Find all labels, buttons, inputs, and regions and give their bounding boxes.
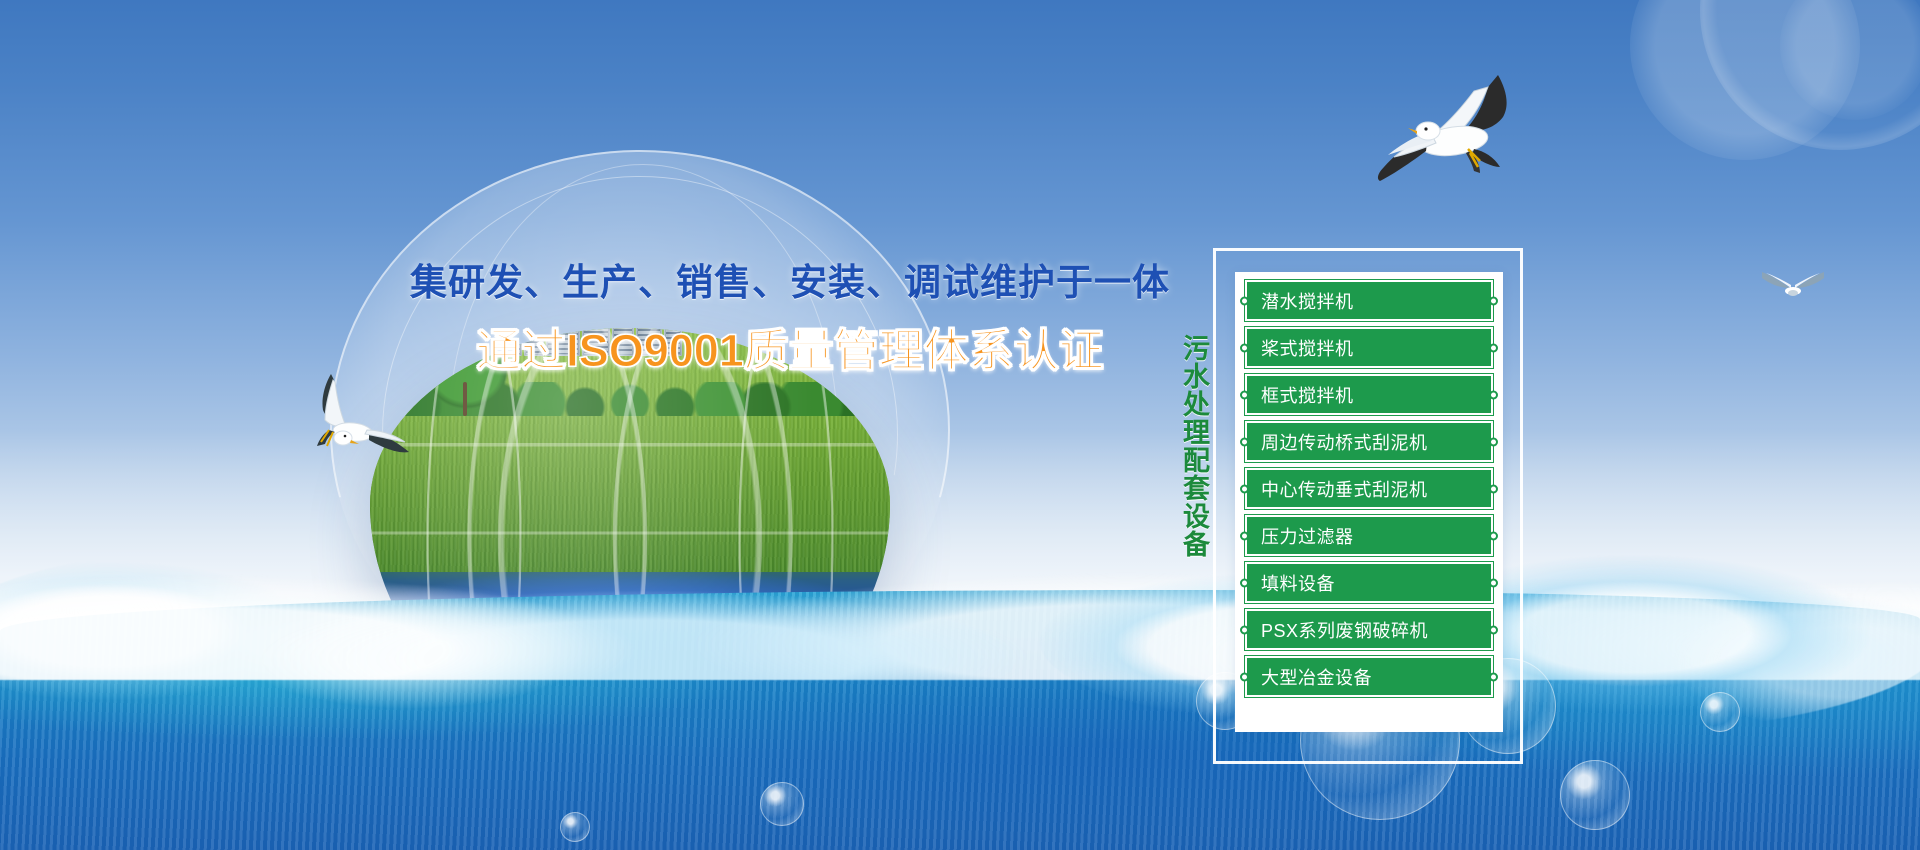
water-bubble-icon xyxy=(560,812,590,842)
product-list: 潜水搅拌机 桨式搅拌机 框式搅拌机 周边传动桥式刮泥机 xyxy=(1245,280,1493,697)
seagull-medium-icon xyxy=(295,368,420,465)
bolt-right-icon xyxy=(1489,390,1498,399)
seagull-large-icon xyxy=(1370,55,1560,200)
list-item-label: 桨式搅拌机 xyxy=(1261,335,1354,361)
list-item-label: 填料设备 xyxy=(1261,570,1335,596)
bolt-right-icon xyxy=(1489,531,1498,540)
bolt-right-icon xyxy=(1489,578,1498,587)
bolt-left-icon xyxy=(1240,531,1249,540)
bolt-left-icon xyxy=(1240,437,1249,446)
bolt-right-icon xyxy=(1489,437,1498,446)
list-item[interactable]: 压力过滤器 xyxy=(1245,515,1493,556)
lens-flare-icon xyxy=(1630,0,1860,160)
seagull-small-icon xyxy=(1758,266,1828,311)
bolt-right-icon xyxy=(1489,343,1498,352)
list-item-label: 大型冶金设备 xyxy=(1261,664,1372,690)
bolt-right-icon xyxy=(1489,625,1498,634)
headline-line-1: 集研发、生产、销售、安装、调试维护于一体 xyxy=(380,252,1200,306)
list-item[interactable]: 周边传动桥式刮泥机 xyxy=(1245,421,1493,462)
bolt-left-icon xyxy=(1240,296,1249,305)
water-scene xyxy=(0,550,1920,850)
list-item-label: 周边传动桥式刮泥机 xyxy=(1261,429,1428,455)
bolt-right-icon xyxy=(1489,296,1498,305)
headline-line-2: 通过ISO9001质量管理体系认证 xyxy=(380,314,1200,379)
hero-banner: 集研发、生产、销售、安装、调试维护于一体 通过ISO9001质量管理体系认证 污… xyxy=(0,0,1920,850)
list-item[interactable]: 框式搅拌机 xyxy=(1245,374,1493,415)
lens-flare-icon xyxy=(1780,0,1920,120)
list-item-label: 中心传动垂式刮泥机 xyxy=(1261,476,1428,502)
list-item-label: 潜水搅拌机 xyxy=(1261,288,1354,314)
product-category-panel: 污水处理配套设备 潜水搅拌机 桨式搅拌机 框式搅拌机 xyxy=(1213,248,1523,764)
list-item[interactable]: 潜水搅拌机 xyxy=(1245,280,1493,321)
lens-flare-icon xyxy=(1700,0,1920,150)
bolt-right-icon xyxy=(1489,484,1498,493)
bolt-left-icon xyxy=(1240,672,1249,681)
panel-vertical-title: 污水处理配套设备 xyxy=(1175,334,1214,558)
list-item-label: 框式搅拌机 xyxy=(1261,382,1354,408)
bolt-left-icon xyxy=(1240,625,1249,634)
list-item[interactable]: PSX系列废钢破碎机 xyxy=(1245,609,1493,650)
bolt-right-icon xyxy=(1489,672,1498,681)
list-item-label: PSX系列废钢破碎机 xyxy=(1261,617,1428,643)
water-bubble-icon xyxy=(760,782,804,826)
bolt-left-icon xyxy=(1240,390,1249,399)
panel-card: 潜水搅拌机 桨式搅拌机 框式搅拌机 周边传动桥式刮泥机 xyxy=(1235,272,1503,732)
list-item[interactable]: 桨式搅拌机 xyxy=(1245,327,1493,368)
bolt-left-icon xyxy=(1240,484,1249,493)
bolt-left-icon xyxy=(1240,343,1249,352)
list-item[interactable]: 中心传动垂式刮泥机 xyxy=(1245,468,1493,509)
list-item[interactable]: 填料设备 xyxy=(1245,562,1493,603)
list-item-label: 压力过滤器 xyxy=(1261,523,1354,549)
list-item[interactable]: 大型冶金设备 xyxy=(1245,656,1493,697)
bolt-left-icon xyxy=(1240,578,1249,587)
water-bubble-icon xyxy=(1560,760,1630,830)
water-bubble-icon xyxy=(1700,692,1740,732)
headline-block: 集研发、生产、销售、安装、调试维护于一体 通过ISO9001质量管理体系认证 xyxy=(380,252,1200,379)
